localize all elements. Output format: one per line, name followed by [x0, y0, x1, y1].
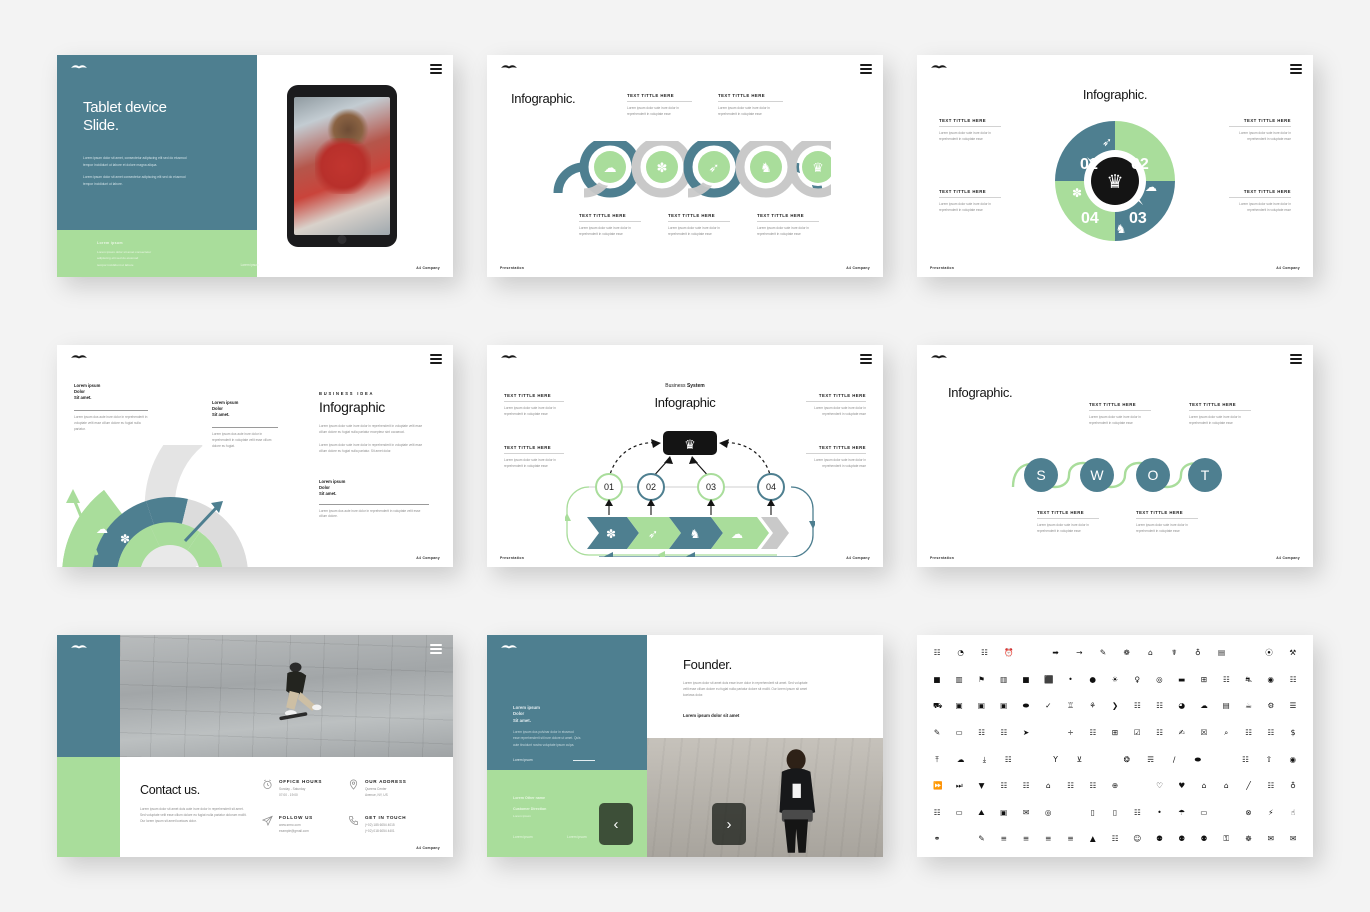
icon-glyph: ✉ [1022, 809, 1030, 817]
divider [74, 410, 148, 411]
contact-item-follow-us: FOLLOW US www.srmo.com example@gmail.com [262, 815, 313, 835]
slide-cell-6: Infographic. TEXT TITTLE HERE Lorem ipsu… [900, 311, 1330, 601]
icon-glyph: ╱ [1245, 782, 1253, 790]
icon-trophy: ♛ [684, 438, 696, 453]
icon-glyph: ▭ [955, 809, 963, 817]
icon-glyph: ☑ [1133, 729, 1141, 737]
step-number-01: 01 [604, 482, 614, 492]
icon-glyph: ▤ [1218, 649, 1226, 657]
icon-cloud: ☁ [96, 522, 108, 536]
divider [757, 221, 819, 222]
icon-glyph: ⏩ [933, 782, 941, 790]
swot-letter-w: W [1090, 467, 1104, 483]
divider [319, 504, 429, 505]
divider [627, 101, 692, 102]
icon-glyph: → [1075, 649, 1083, 657]
contact-hero-photo [120, 635, 453, 757]
icon-glyph: ▣ [978, 702, 986, 710]
icon-glyph: ⚑ [978, 676, 986, 684]
s3-block-3: TEXT TITTLE HERE Lorem ipsum dolor sute … [939, 189, 1001, 213]
icon-glyph: ▯ [1111, 809, 1119, 817]
icon-glyph: ▥ [955, 676, 963, 684]
arrow-line [573, 760, 595, 761]
slide-icon-set[interactable]: ☷◔☷⏰➡→✎❁⌂☤♁▤⦿⚒ ■▥⚑▥■⬛•●☀♀◎▬⊞☷⛐◉☷ ⛟▣▣▣⬬✓♖… [917, 635, 1313, 857]
founder-green-link-a[interactable]: Lorem ipsum [513, 835, 533, 839]
icon-glyph: $ [1289, 729, 1297, 737]
icon-glyph: ☂ [1178, 809, 1186, 817]
icon-glyph: ☷ [1241, 756, 1249, 764]
hamburger-menu-icon[interactable] [1290, 354, 1302, 364]
footer-right: A4 Company [1276, 266, 1300, 270]
swot-letter-t: T [1201, 467, 1210, 483]
icon-glyph: ⬬ [1022, 702, 1030, 710]
icon-glyph: ☕ [1245, 702, 1253, 710]
icon-glyph: ≡ [1000, 835, 1008, 843]
icon-glyph: ◉ [1267, 676, 1275, 684]
icon-glyph: ❁ [1123, 649, 1131, 657]
contact-green-panel [57, 757, 120, 857]
icon-puzzle: ✽ [657, 161, 668, 176]
footer-left: Presentation [930, 556, 954, 560]
slide-cell-9: ☷◔☷⏰➡→✎❁⌂☤♁▤⦿⚒ ■▥⚑▥■⬛•●☀♀◎▬⊞☷⛐◉☷ ⛟▣▣▣⬬✓♖… [900, 601, 1330, 891]
icon-glyph: ◎ [1156, 676, 1164, 684]
founder-figure-icon [756, 748, 836, 855]
divider [668, 221, 730, 222]
icon-glyph: ■ [933, 676, 941, 684]
icon-rocket: ➶ [709, 161, 720, 176]
founder-teal-link[interactable]: Lorem ipsum [513, 758, 533, 762]
icon-row: ⛟▣▣▣⬬✓♖⚘❯☷☷◕☁▤☕⚙☰ [933, 702, 1297, 710]
s1-paragraphs: Lorem ipsum dolor sit amet, consectetur … [83, 155, 191, 187]
slide-cell-7: Contact us. Lorem ipsum dolor sit amet d… [40, 601, 470, 891]
icon-glyph: ◕ [1178, 702, 1186, 710]
step-number-02: 02 [646, 482, 656, 492]
footer-right: A4 Company [1276, 556, 1300, 560]
icon-glyph: ⛰ [978, 809, 986, 817]
icon-masks: ♞ [760, 161, 772, 176]
s2-title: Infographic. [511, 91, 575, 106]
icon-glyph: ◎ [1044, 809, 1052, 817]
icon-glyph: ☷ [1111, 835, 1119, 843]
icon-cloud: ☁ [731, 527, 743, 541]
mustache-logo-icon [930, 354, 948, 361]
contact-teal-panel [57, 635, 120, 757]
step-number-04: 04 [766, 482, 776, 492]
icon-glyph: ◔ [957, 649, 965, 657]
map-pin-icon [348, 779, 359, 790]
icon-glyph: ÷ [1067, 729, 1075, 737]
founder-title: Founder. [683, 657, 732, 672]
slide-cell-4: ☁ ✽ ➶ Lorem ipsum Dolor Sit amet. Lorem … [40, 311, 470, 601]
s6-swot-wave: S W O T [1009, 449, 1223, 501]
icon-glyph: ▥ [1000, 676, 1008, 684]
icon-glyph: ▣ [1000, 809, 1008, 817]
divider [504, 401, 564, 402]
divider [1229, 197, 1291, 198]
founder-body: Lorem ipsum dolor sit amet duis esse iru… [683, 681, 813, 699]
slide-cell-2: Infographic. TEXT TITTLE HERE Lorem ipsu… [470, 21, 900, 311]
icon-glyph: ▬ [1178, 676, 1186, 684]
skater-figure-icon [267, 659, 334, 730]
s5-eyebrow: Business System [487, 383, 883, 389]
icon-glyph: ☰ [1289, 702, 1297, 710]
icon-glyph: ⏭ [955, 782, 963, 790]
icon-glyph: ⤒ [933, 756, 941, 764]
icon-glyph: ♀ [1133, 676, 1141, 684]
icon-glyph: ⊞ [1200, 676, 1208, 684]
step-number-03: 03 [706, 482, 716, 492]
divider [806, 401, 866, 402]
icon-glyph: ⌂ [1222, 782, 1230, 790]
icon-glyph: • [1067, 676, 1075, 684]
paper-plane-icon [262, 815, 273, 826]
footer-left: Presentation [500, 556, 524, 560]
icon-glyph: ⚉ [1156, 835, 1164, 843]
hamburger-menu-icon[interactable] [1290, 64, 1302, 74]
footer-right: A4 Company [416, 266, 440, 270]
icon-row: ☷▭⛰▣✉◎▯▯☷•☂▭⊗⚡☝ [933, 809, 1297, 817]
s2-top-block-1: TEXT TITTLE HERE Lorem ipsum dolor sute … [627, 93, 692, 117]
s5-left-block-1: TEXT TITTLE HERE Lorem ipsum dolor sute … [504, 393, 564, 417]
slide-cell-5: Business System Infographic ♛ [470, 311, 900, 601]
icon-glyph: ⬬ [1194, 756, 1202, 764]
slide-swot[interactable]: Infographic. TEXT TITTLE HERE Lorem ipsu… [917, 345, 1313, 567]
divider [939, 126, 1001, 127]
s5-right-block-2: TEXT TITTLE HERE Lorem ipsum dolor sute … [806, 445, 866, 469]
icon-glyph: ☷ [1156, 702, 1164, 710]
s4-right-column: BUSINESS IDEA Infographic Lorem ipsum do… [319, 391, 429, 520]
s6-top-block-1: TEXT TITTLE HERE Lorem ipsum dolor sute … [1089, 402, 1151, 426]
hamburger-menu-icon[interactable] [430, 64, 442, 74]
hamburger-menu-icon[interactable] [860, 64, 872, 74]
slide-infographic-pinwheel[interactable]: Infographic. ♛ 01 02 03 04 ➶ ☁ [917, 55, 1313, 277]
icon-glyph: ⚭ [933, 835, 941, 843]
icon-glyph: ☀ [1111, 676, 1119, 684]
icon-masks: ♞ [690, 527, 701, 541]
icon-glyph: ⚉ [1178, 835, 1186, 843]
icon-glyph: ☷ [1156, 729, 1164, 737]
slide-cell-8: Lorem ipsum Dolor Sit amet. Lorem ipsum … [470, 601, 900, 891]
slide-infographic-wave[interactable]: Infographic. TEXT TITTLE HERE Lorem ipsu… [487, 55, 883, 277]
icon-glyph: ■ [1022, 676, 1030, 684]
icon-glyph: ☷ [1000, 782, 1008, 790]
icon-glyph: ⌂ [1044, 782, 1052, 790]
contact-card: Contact us. Lorem ipsum dolor sit amet d… [120, 757, 453, 857]
divider [1229, 126, 1291, 127]
icon-row: ☷◔☷⏰➡→✎❁⌂☤♁▤⦿⚒ [933, 649, 1297, 657]
icon-row: ✎▭☷☷➤÷☷⊞☑☷✍☒⌕☷☷$ [933, 729, 1297, 737]
s4-left-block: Lorem ipsum Dolor Sit amet. Lorem ipsum … [74, 383, 148, 433]
icon-glyph: ☷ [933, 809, 941, 817]
tablet-home-button [338, 235, 347, 244]
icon-glyph: ● [1089, 676, 1097, 684]
icon-glyph: ♖ [1067, 702, 1075, 710]
icon-glyph: ☁ [1200, 702, 1208, 710]
icon-glyph: ♁ [1194, 649, 1202, 657]
icon-glyph: ☷ [1267, 782, 1275, 790]
mustache-logo-icon [930, 64, 948, 71]
icon-trophy: ♛ [812, 161, 824, 176]
phone-icon [348, 815, 359, 826]
icon-glyph: ◉ [1289, 756, 1297, 764]
icon-glyph: Υ [1052, 756, 1060, 764]
contact-item-office-hours: OFFICE HOURS Sunday - Saturday 07:00 - 1… [262, 779, 322, 799]
icon-glyph: ⚉ [1200, 835, 1208, 843]
alarm-clock-icon [262, 779, 273, 790]
slide-grid: Tablet deviceSlide. Lorem ipsum dolor si… [0, 0, 1370, 912]
s3-title: Infographic. [917, 87, 1313, 102]
next-slide-button[interactable]: › [712, 803, 746, 845]
founder-text-card: Founder. Lorem ipsum dolor sit amet duis… [647, 635, 883, 738]
mustache-logo-icon [500, 644, 518, 651]
divider [579, 221, 641, 222]
segment-number-04: 04 [1081, 210, 1099, 227]
icon-glyph: ➤ [1022, 729, 1030, 737]
slide-cell-1: Tablet deviceSlide. Lorem ipsum dolor si… [40, 21, 470, 311]
slide-business-idea[interactable]: ☁ ✽ ➶ Lorem ipsum Dolor Sit amet. Lorem … [57, 345, 453, 567]
icon-glyph: ☒ [1200, 729, 1208, 737]
icon-glyph: ✎ [933, 729, 941, 737]
icon-rocket: ➶ [1102, 135, 1112, 149]
contact-title: Contact us. [140, 783, 200, 797]
slide-business-system[interactable]: Business System Infographic ♛ [487, 345, 883, 567]
icon-glyph: ♁ [1289, 782, 1297, 790]
s5-left-block-2: TEXT TITTLE HERE Lorem ipsum dolor sute … [504, 445, 564, 469]
icon-glyph: ▯ [1089, 809, 1097, 817]
icon-glyph: ☁ [957, 756, 965, 764]
icon-glyph: ✎ [1099, 649, 1107, 657]
s4-title: Infographic [319, 399, 429, 415]
icon-puzzle: ✽ [606, 527, 616, 541]
icon-set-grid: ☷◔☷⏰➡→✎❁⌂☤♁▤⦿⚒ ■▥⚑▥■⬛•●☀♀◎▬⊞☷⛐◉☷ ⛟▣▣▣⬬✓♖… [933, 649, 1297, 843]
icon-glyph: ⌂ [1146, 649, 1154, 657]
icon-glyph: ☷ [1245, 729, 1253, 737]
icon-glyph: ☸ [1245, 835, 1253, 843]
swot-letter-s: S [1036, 467, 1045, 483]
divider [504, 453, 564, 454]
s6-bottom-block-2: TEXT TITTLE HERE Lorem ipsum dolor sute … [1136, 510, 1198, 534]
divider [1136, 518, 1198, 519]
icon-glyph: ≡ [1022, 835, 1030, 843]
icon-glyph: ▣ [955, 702, 963, 710]
s2-wave-chain: ☁ ✽ ➶ ♞ ♛ [553, 141, 831, 205]
icon-glyph: ▤ [1222, 702, 1230, 710]
s6-top-block-2: TEXT TITTLE HERE Lorem ipsum dolor sute … [1189, 402, 1251, 426]
icon-glyph: ☷ [1067, 782, 1075, 790]
icon-glyph: ✓ [1044, 702, 1052, 710]
footer-left: Presentation [500, 266, 524, 270]
icon-glyph: ⊞ [1111, 729, 1119, 737]
icon-glyph: ✎ [978, 835, 986, 843]
icon-glyph: ∕ [1170, 756, 1178, 764]
icon-glyph: ➡ [1052, 649, 1060, 657]
s1-green-text: Lorem ipsum Lorem ipsum dolor sit amet c… [97, 241, 237, 268]
founder-green-link-b[interactable]: Lorem ipsum [567, 835, 587, 839]
icon-trophy: ♛ [1106, 171, 1123, 193]
icon-puzzle: ✽ [120, 532, 130, 546]
s4-eyebrow: BUSINESS IDEA [319, 391, 429, 396]
s1-teal-panel [57, 55, 257, 230]
icon-glyph: ☷ [1289, 676, 1297, 684]
icon-rocket: ➶ [648, 527, 658, 541]
founder-teal-panel: Lorem ipsum Dolor Sit amet. Lorem ipsum … [487, 635, 647, 770]
icon-glyph: ▲ [1089, 835, 1097, 843]
footer-right: A4 Company [846, 556, 870, 560]
icon-glyph: ❂ [1123, 756, 1131, 764]
footer-left: Presentation [930, 266, 954, 270]
divider [1037, 518, 1099, 519]
icon-glyph: ▭ [955, 729, 963, 737]
icon-glyph: ☷ [978, 729, 986, 737]
s3-block-2: TEXT TITTLE HERE Lorem ipsum dolor sute … [1229, 118, 1291, 142]
icon-glyph: ♡ [1156, 782, 1164, 790]
icon-glyph: ♥ [1178, 782, 1186, 790]
mustache-logo-icon [70, 354, 88, 361]
icon-glyph: • [1156, 809, 1164, 817]
s2-bottom-block-1: TEXT TITTLE HERE Lorem ipsum dolor sute … [579, 213, 641, 237]
s4-mid-block: Lorem ipsum Dolor Sit amet. Lorem ipsum … [212, 400, 278, 450]
icon-glyph: ⊻ [1075, 756, 1083, 764]
icon-puzzle: ✽ [1072, 186, 1082, 200]
s6-bottom-block-1: TEXT TITTLE HERE Lorem ipsum dolor sute … [1037, 510, 1099, 534]
icon-glyph: ≡ [1044, 835, 1052, 843]
icon-glyph: ☷ [933, 649, 941, 657]
s2-bottom-block-3: TEXT TITTLE HERE Lorem ipsum dolor sute … [757, 213, 819, 237]
tablet-device-mockup [287, 85, 397, 247]
icon-glyph: ⚘ [1089, 702, 1097, 710]
icon-glyph: ⌂ [1200, 782, 1208, 790]
icon-glyph: ☷ [1089, 729, 1097, 737]
slide-cell-3: Infographic. ♛ 01 02 03 04 ➶ ☁ [900, 21, 1330, 311]
divider [718, 101, 783, 102]
segment-number-01: 01 [1080, 156, 1098, 173]
icon-glyph: ⚿ [1222, 835, 1230, 843]
slide-founder[interactable]: Lorem ipsum Dolor Sit amet. Lorem ipsum … [487, 635, 883, 857]
contact-body: Lorem ipsum dolor sit amet duis aute iru… [140, 807, 248, 825]
icon-glyph: ⚙ [1267, 702, 1275, 710]
icon-rocket: ➶ [190, 562, 200, 567]
mustache-logo-icon [70, 64, 88, 71]
icon-glyph: ≡ [1067, 835, 1075, 843]
icon-glyph: ⚡ [1267, 809, 1275, 817]
founder-caption: Lorem ipsum dolor sit amet [683, 713, 739, 718]
footer-right: A4 Company [416, 556, 440, 560]
icon-glyph: ☷ [1022, 782, 1030, 790]
icon-glyph: ⤓ [980, 756, 988, 764]
icon-glyph: ☷ [1000, 729, 1008, 737]
segment-number-02: 02 [1131, 156, 1149, 173]
icon-glyph: ☷ [1133, 702, 1141, 710]
icon-glyph: ⦿ [1265, 649, 1273, 657]
icon-glyph: ⊕ [1111, 782, 1119, 790]
icon-row: ■▥⚑▥■⬛•●☀♀◎▬⊞☷⛐◉☷ [933, 676, 1297, 684]
s2-bottom-block-2: TEXT TITTLE HERE Lorem ipsum dolor sute … [668, 213, 730, 237]
icon-masks: ♞ [1116, 222, 1127, 236]
hamburger-menu-icon[interactable] [430, 644, 442, 654]
hamburger-menu-icon[interactable] [860, 354, 872, 364]
contact-item-address: OUR ADDRESS Queens Center Avenue, NY, US [348, 779, 406, 799]
s5-right-block-1: TEXT TITTLE HERE Lorem ipsum dolor sute … [806, 393, 866, 417]
icon-glyph: ⌕ [1222, 729, 1230, 737]
icon-row: ⤒☁⤓☷Υ⊻❂☴∕⬬☷⇧◉ [933, 756, 1297, 764]
icon-glyph: ▭ [1200, 809, 1208, 817]
mustache-logo-icon [70, 644, 88, 651]
s3-pinwheel: ♛ 01 02 03 04 ➶ ☁ ♞ ✽ [1051, 117, 1179, 245]
icon-glyph: ⛐ [1245, 676, 1253, 684]
s3-block-4: TEXT TITTLE HERE Lorem ipsum dolor sute … [1229, 189, 1291, 213]
mustache-logo-icon [500, 354, 518, 361]
icon-glyph: ☷ [1222, 676, 1230, 684]
icon-row: ⚭✎≡≡≡≡▲☷☺⚉⚉⚉⚿☸✉✉ [933, 835, 1297, 843]
s2-top-block-2: TEXT TITTLE HERE Lorem ipsum dolor sute … [718, 93, 783, 117]
icon-glyph: ☝ [1289, 809, 1297, 817]
divider [806, 453, 866, 454]
s1-green-link[interactable]: Lorem ipsum [241, 263, 259, 267]
tablet-screen-photo [294, 97, 390, 235]
icon-glyph: ☺ [1133, 835, 1141, 843]
divider [939, 197, 1001, 198]
icon-cloud: ☁ [604, 161, 617, 176]
icon-glyph: ✍ [1178, 729, 1186, 737]
icon-glyph: ☷ [980, 649, 988, 657]
icon-glyph: ☷ [1133, 809, 1141, 817]
divider [1189, 410, 1251, 411]
s1-title: Tablet deviceSlide. [83, 99, 167, 136]
mustache-logo-icon [500, 64, 518, 71]
s4-concentric-arcs: ☁ ✽ ➶ [57, 445, 295, 567]
footer-right: A4 Company [416, 846, 440, 850]
slide-contact-us[interactable]: Contact us. Lorem ipsum dolor sit amet d… [57, 635, 453, 857]
divider [1089, 410, 1151, 411]
icon-glyph: ⬛ [1044, 676, 1052, 684]
divider [212, 427, 278, 428]
prev-slide-button[interactable]: ‹ [599, 803, 633, 845]
icon-glyph: ☴ [1146, 756, 1154, 764]
icon-glyph: ☷ [1004, 756, 1012, 764]
swot-letter-o: O [1148, 467, 1159, 483]
hamburger-menu-icon[interactable] [430, 354, 442, 364]
icon-glyph: ☤ [1170, 649, 1178, 657]
slide-tablet-device[interactable]: Tablet deviceSlide. Lorem ipsum dolor si… [57, 55, 453, 277]
segment-number-03: 03 [1129, 210, 1147, 227]
icon-glyph: ☷ [1089, 782, 1097, 790]
icon-glyph: ☷ [1267, 729, 1275, 737]
icon-glyph: ✉ [1289, 835, 1297, 843]
icon-glyph: ▼ [978, 782, 986, 790]
s3-block-1: TEXT TITTLE HERE Lorem ipsum dolor sute … [939, 118, 1001, 142]
icon-glyph: ❯ [1111, 702, 1119, 710]
s5-system-diagram: ♛ 01 [565, 427, 815, 557]
founder-photo [647, 738, 883, 857]
icon-glyph: ⚒ [1289, 649, 1297, 657]
icon-cloud: ☁ [1145, 180, 1157, 194]
icon-glyph: ✉ [1267, 835, 1275, 843]
icon-glyph: ▣ [1000, 702, 1008, 710]
s6-title: Infographic. [948, 385, 1012, 400]
icon-glyph: ⇧ [1265, 756, 1273, 764]
contact-item-get-in-touch: GET IN TOUCH (+02) 185 6054 4015 (+02) 0… [348, 815, 406, 835]
icon-row: ⏩⏭▼☷☷⌂☷☷⊕♡♥⌂⌂╱☷♁ [933, 782, 1297, 790]
icon-glyph: ⛟ [933, 702, 941, 710]
icon-glyph: ⏰ [1004, 649, 1012, 657]
icon-glyph: ⊗ [1245, 809, 1253, 817]
footer-right: A4 Company [846, 266, 870, 270]
